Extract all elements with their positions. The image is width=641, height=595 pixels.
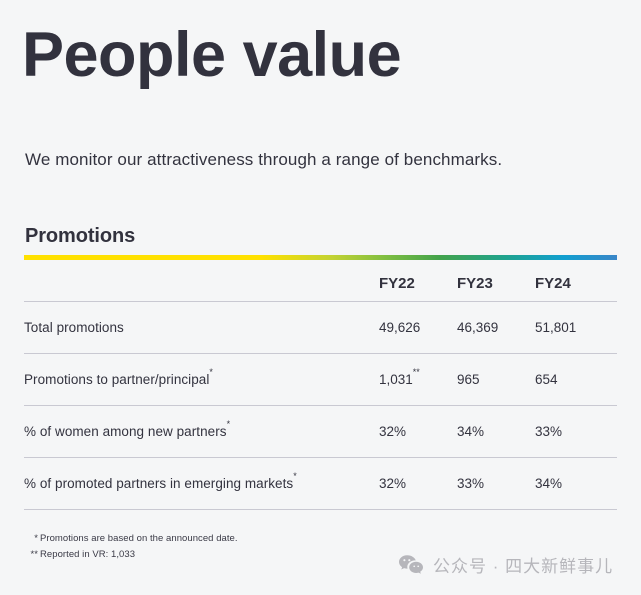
row-label-footnote-mark: * xyxy=(293,471,297,481)
row-value-text: 34% xyxy=(457,424,484,439)
row-value-text: 51,801 xyxy=(535,320,576,335)
row-value-fy23: 46,369 xyxy=(457,320,535,335)
row-value-text: 33% xyxy=(457,476,484,491)
table-header-row: FY22 FY23 FY24 xyxy=(24,266,617,302)
row-value-fy22: 49,626 xyxy=(379,320,457,335)
row-label: Total promotions xyxy=(24,320,379,335)
row-value-fy23: 965 xyxy=(457,372,535,387)
footnote-text: Promotions are based on the announced da… xyxy=(40,531,238,547)
row-value-text: 49,626 xyxy=(379,320,420,335)
row-label-text: % of women among new partners xyxy=(24,424,227,439)
footnote-text: Reported in VR: 1,033 xyxy=(40,547,135,563)
table-row: Total promotions 49,626 46,369 51,801 xyxy=(24,302,617,354)
row-value-text: 965 xyxy=(457,372,480,387)
row-value-fy22: 32% xyxy=(379,424,457,439)
row-value-fy24: 33% xyxy=(535,424,613,439)
row-value-fy22: 32% xyxy=(379,476,457,491)
footnote-item: ** Reported in VR: 1,033 xyxy=(24,547,238,563)
row-label-footnote-mark: * xyxy=(209,367,213,377)
row-value-fy24: 51,801 xyxy=(535,320,613,335)
watermark-text: 公众号 · 四大新鲜事儿 xyxy=(433,552,613,577)
row-label: % of promoted partners in emerging marke… xyxy=(24,476,379,491)
row-value-fy23: 34% xyxy=(457,424,535,439)
table-row: % of women among new partners* 32% 34% 3… xyxy=(24,406,617,458)
row-value-fy24: 654 xyxy=(535,372,613,387)
section-heading-promotions: Promotions xyxy=(25,225,135,248)
row-value-fy23: 33% xyxy=(457,476,535,491)
row-value-text: 33% xyxy=(535,424,562,439)
footnote-mark: * xyxy=(24,531,38,547)
row-value-text: 654 xyxy=(535,372,558,387)
row-value-fy22: 1,031** xyxy=(379,372,457,387)
row-label-text: Promotions to partner/principal xyxy=(24,372,209,387)
page-root: People value We monitor our attractivene… xyxy=(0,0,641,595)
table-row: Promotions to partner/principal* 1,031**… xyxy=(24,354,617,406)
promotions-table: FY22 FY23 FY24 Total promotions 49,626 4… xyxy=(24,266,617,510)
row-label: Promotions to partner/principal* xyxy=(24,372,379,387)
footnote-mark: ** xyxy=(24,547,38,563)
row-value-fy24: 34% xyxy=(535,476,613,491)
wechat-icon xyxy=(398,554,424,576)
page-title: People value xyxy=(22,22,401,88)
watermark: 公众号 · 四大新鲜事儿 xyxy=(398,552,613,577)
row-label-text: % of promoted partners in emerging marke… xyxy=(24,476,293,491)
row-label-text: Total promotions xyxy=(24,320,124,335)
row-value-footnote-mark: ** xyxy=(413,367,420,377)
footnote-item: * Promotions are based on the announced … xyxy=(24,531,238,547)
row-value-text: 32% xyxy=(379,476,406,491)
row-label-footnote-mark: * xyxy=(227,419,231,429)
footnotes: * Promotions are based on the announced … xyxy=(24,531,238,562)
row-value-text: 46,369 xyxy=(457,320,498,335)
row-value-text: 32% xyxy=(379,424,406,439)
row-value-text: 34% xyxy=(535,476,562,491)
page-subtitle: We monitor our attractiveness through a … xyxy=(25,150,502,170)
column-header-fy24: FY24 xyxy=(535,275,613,292)
row-label: % of women among new partners* xyxy=(24,424,379,439)
gradient-divider xyxy=(24,255,617,260)
column-header-fy22: FY22 xyxy=(379,275,457,292)
table-row: % of promoted partners in emerging marke… xyxy=(24,458,617,510)
column-header-fy23: FY23 xyxy=(457,275,535,292)
row-value-text: 1,031 xyxy=(379,372,413,387)
